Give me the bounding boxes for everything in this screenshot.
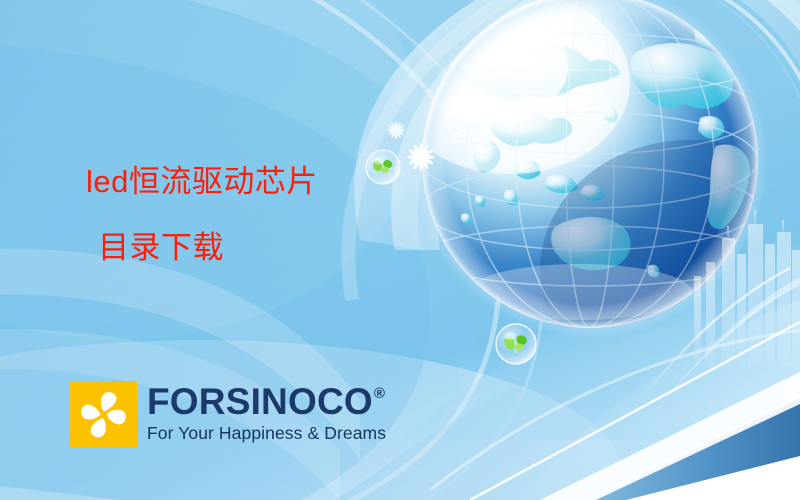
logo-wordmark-row: FORSINOCO ® [147, 383, 386, 421]
brand-logo: FORSINOCO ® For Your Happiness & Dreams [70, 381, 386, 448]
promotional-banner: led恒流驱动芯片 目录下载 FORSINOCO ® For Your Happ… [0, 0, 800, 500]
four-petal-pinwheel-icon [70, 381, 137, 448]
logo-tagline: For Your Happiness & Dreams [147, 423, 386, 443]
registered-trademark-icon: ® [374, 386, 385, 401]
logo-wordmark-text: FORSINOCO [147, 383, 373, 421]
logo-text-block: FORSINOCO ® For Your Happiness & Dreams [147, 381, 386, 443]
